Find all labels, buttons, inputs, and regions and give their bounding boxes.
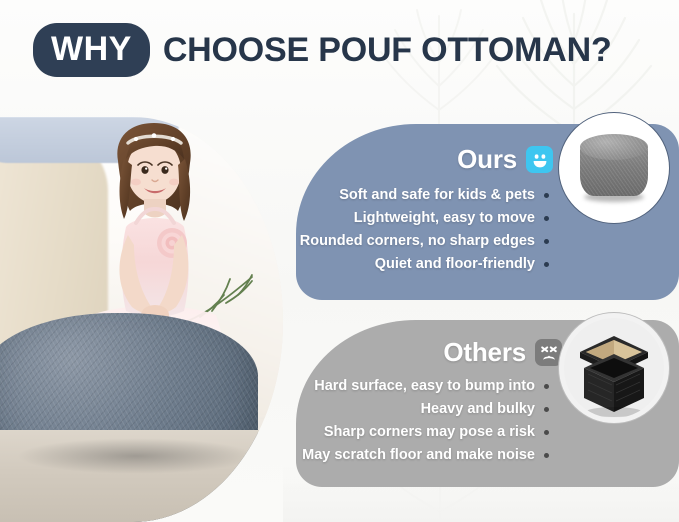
bullet-label: Sharp corners may pose a risk [324,424,535,440]
list-item: Quiet and floor-friendly [300,256,549,272]
list-item: Sharp corners may pose a risk [302,424,549,440]
smiling-face-icon [526,146,553,173]
bullet-dot-icon [544,407,549,412]
panel-ours-bullets: Soft and safe for kids & pets Lightweigh… [300,187,549,279]
photo-floor-shadow [16,438,256,474]
page-title: CHOOSE POUF OTTOMAN? [163,31,612,70]
bullet-dot-icon [544,216,549,221]
bullet-label: Lightweight, easy to move [354,210,535,226]
list-item: Soft and safe for kids & pets [300,187,549,203]
page-header: WHY CHOOSE POUF OTTOMAN? [33,23,612,77]
bullet-label: Heavy and bulky [421,401,535,417]
list-item: Lightweight, easy to move [300,210,549,226]
bullet-dot-icon [544,262,549,267]
bullet-dot-icon [544,239,549,244]
panel-ours-title: Ours [457,144,517,175]
confounded-face-icon [535,339,562,366]
panel-others-title: Others [443,337,526,368]
others-product-thumbnail [564,318,664,418]
thumb-pouf-top [580,134,648,160]
round-pouf-ottoman-image [564,118,664,218]
bullet-dot-icon [544,384,549,389]
bullet-dot-icon [544,453,549,458]
bullet-dot-icon [544,430,549,435]
panel-others-header: Others [443,337,562,368]
bullet-label: Hard surface, easy to bump into [314,378,535,394]
bullet-label: Quiet and floor-friendly [375,256,535,272]
lifestyle-photo [0,117,283,522]
list-item: May scratch floor and make noise [302,447,549,463]
list-item: Hard surface, easy to bump into [302,378,549,394]
bullet-dot-icon [544,193,549,198]
infographic-canvas: WHY CHOOSE POUF OTTOMAN? [0,0,679,522]
black-storage-ottoman-image [564,318,664,418]
panel-others-bullets: Hard surface, easy to bump into Heavy an… [302,378,549,470]
bullet-label: Rounded corners, no sharp edges [300,233,535,249]
panel-ours-header: Ours [457,144,553,175]
list-item: Rounded corners, no sharp edges [300,233,549,249]
bullet-label: May scratch floor and make noise [302,447,535,463]
why-badge: WHY [33,23,150,77]
ours-product-thumbnail [564,118,664,218]
storage-box-illustration [564,318,664,418]
bullet-label: Soft and safe for kids & pets [339,187,535,203]
list-item: Heavy and bulky [302,401,549,417]
